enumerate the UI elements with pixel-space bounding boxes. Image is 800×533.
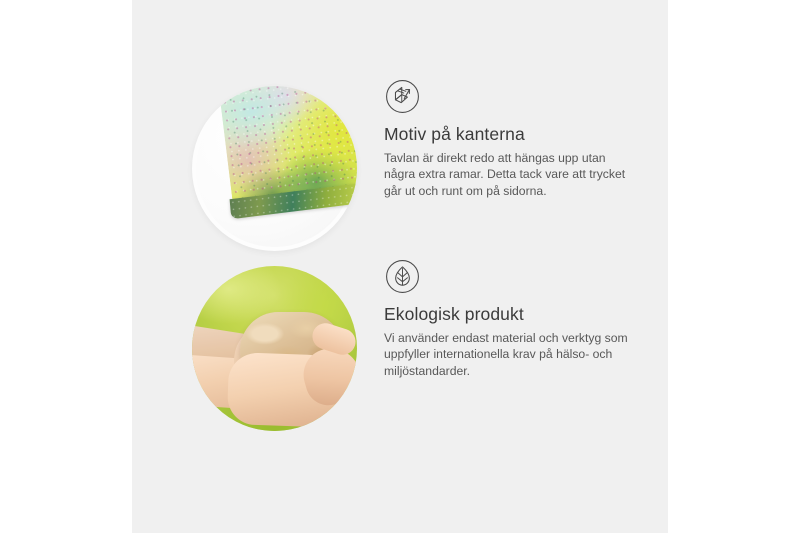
feature-title: Ekologisk produkt	[384, 303, 656, 325]
feature-block-ekologisk-produkt: Ekologisk produkt Vi använder endast mat…	[132, 258, 668, 443]
canvas-print-object	[219, 86, 357, 249]
feature-copy: Ekologisk produkt Vi använder endast mat…	[384, 258, 656, 379]
hands-holding-wood-chips-photo	[192, 266, 357, 431]
feature-title: Motiv på kanterna	[384, 123, 656, 145]
product-feature-page: Motiv på kanterna Tavlan är direkt redo …	[0, 0, 800, 533]
leaf-icon	[384, 258, 421, 295]
canvas-print-corner-photo	[192, 86, 357, 251]
content-panel: Motiv på kanterna Tavlan är direkt redo …	[132, 0, 668, 533]
canvas-wrapped-edge-icon	[384, 78, 421, 115]
feature-block-motiv-pa-kanterna: Motiv på kanterna Tavlan är direkt redo …	[132, 78, 668, 263]
feature-description: Tavlan är direkt redo att hängas upp uta…	[384, 150, 632, 199]
feature-description: Vi använder endast material och verktyg …	[384, 330, 632, 379]
feature-copy: Motiv på kanterna Tavlan är direkt redo …	[384, 78, 656, 199]
